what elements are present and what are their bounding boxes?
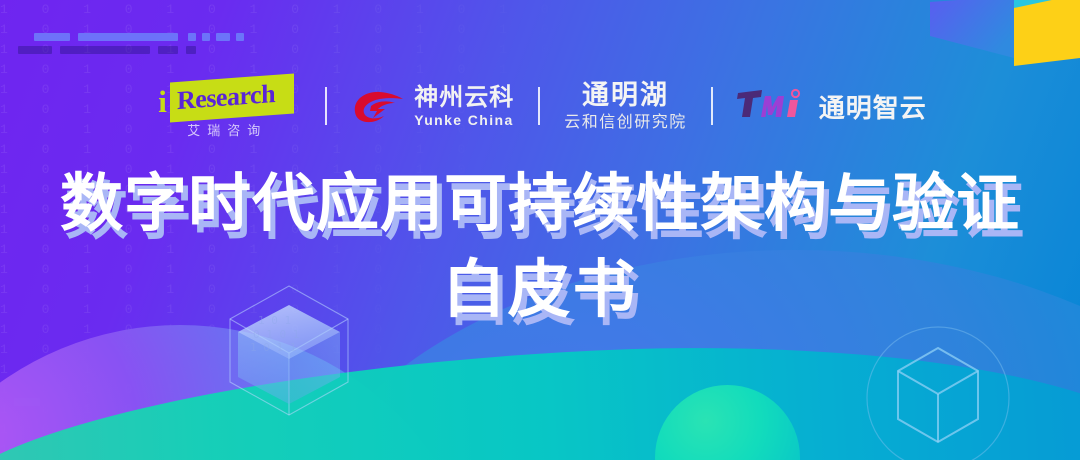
tongminghu-name: 通明湖 <box>582 82 669 109</box>
logo-tmi-zhiyun[interactable]: 通明智云 <box>737 86 927 126</box>
tongminghu-institute: 云和信创研究院 <box>564 115 687 131</box>
iresearch-i-letter: i <box>158 86 167 117</box>
cover-title-block: 数字时代应用可持续性架构与验证 白皮书 <box>0 168 1080 326</box>
logo-separator <box>325 87 327 125</box>
yunke-swirl-icon <box>351 86 405 126</box>
logo-tongminghu[interactable]: 通明湖 云和信创研究院 <box>564 82 687 131</box>
svg-text:1 0 1 1: 1 0 1 1 <box>250 341 296 354</box>
logo-separator <box>711 87 713 125</box>
iresearch-chinese: 艾瑞咨询 <box>159 120 295 139</box>
tmi-wordmark-icon <box>737 86 809 126</box>
svg-text:0 1 0 1: 0 1 0 1 <box>253 328 299 341</box>
yunke-chinese: 神州云科 <box>414 86 514 110</box>
logo-iresearch[interactable]: i Research 艾瑞咨询 <box>153 74 301 138</box>
whitepaper-cover-banner: 1 0 1 0 1 0 1 0 1 0 1 0 1 0 1 0 1 0 1 0 … <box>0 0 1080 460</box>
logo-yunke-china[interactable]: 神州云科 Yunke China <box>351 86 514 127</box>
yunke-english: Yunke China <box>414 113 514 127</box>
logo-separator <box>538 87 540 125</box>
page-title-line-1: 数字时代应用可持续性架构与验证 <box>0 168 1080 240</box>
partner-logo-row: i Research 艾瑞咨询 神州云科 Yunke China <box>0 72 1080 140</box>
wireframe-cube-icon <box>858 318 1018 460</box>
tmi-chinese: 通明智云 <box>819 88 927 125</box>
page-title-line-2: 白皮书 <box>0 254 1080 326</box>
